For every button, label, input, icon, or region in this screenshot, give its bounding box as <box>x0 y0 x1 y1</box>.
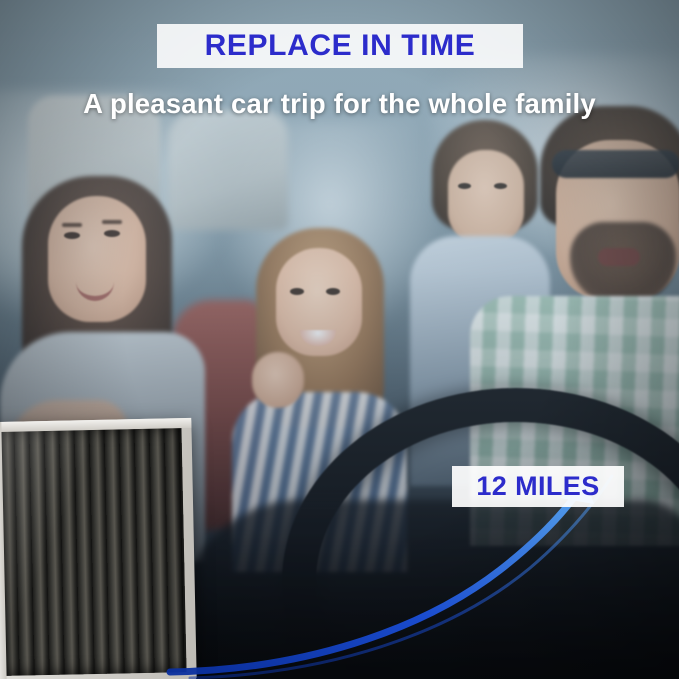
headline-banner: REPLACE IN TIME <box>157 24 523 68</box>
headline-text: REPLACE IN TIME <box>205 29 476 63</box>
subheadline-text: A pleasant car trip for the whole family <box>0 88 679 120</box>
cabin-air-filter <box>0 418 197 679</box>
mileage-badge: 12 MILES <box>452 466 624 507</box>
product-poster: REPLACE IN TIME A pleasant car trip for … <box>0 0 679 679</box>
mileage-badge-text: 12 MILES <box>476 471 599 502</box>
filter-highlight <box>0 426 187 676</box>
